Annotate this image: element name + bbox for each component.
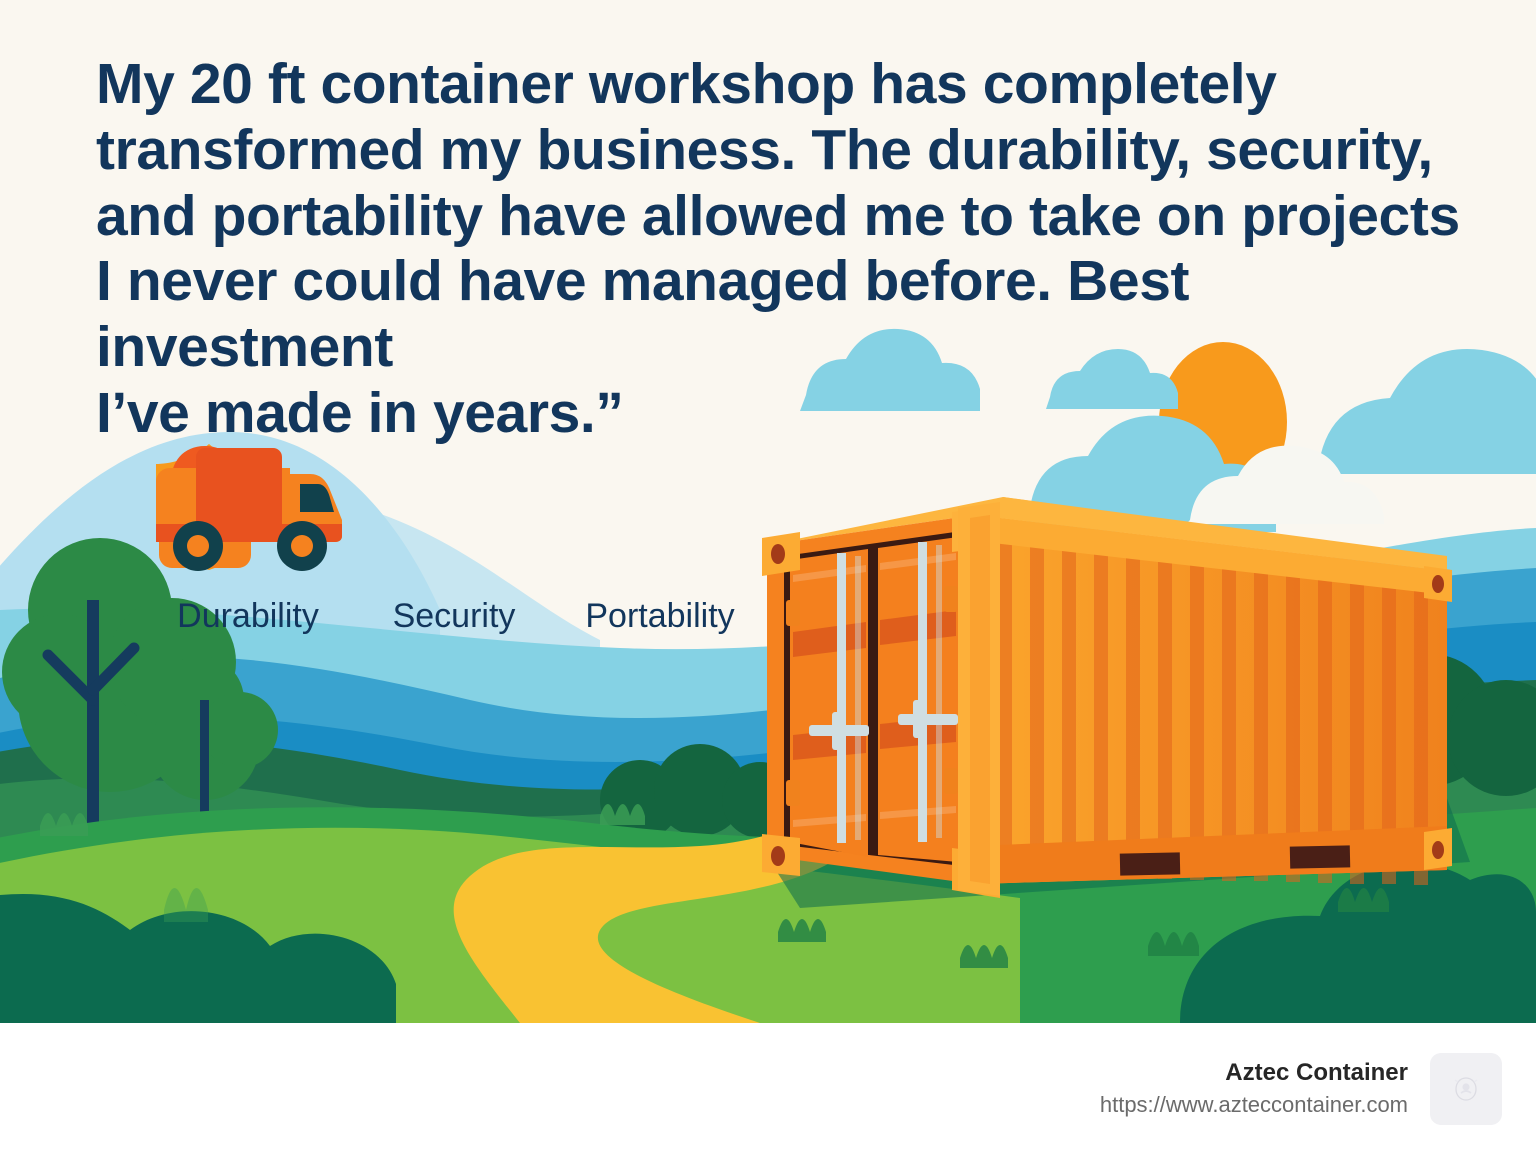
footer-text-block: Aztec Container https://www.azteccontain… bbox=[1100, 1058, 1408, 1120]
feature-item-security: Security bbox=[356, 440, 552, 633]
brand-url[interactable]: https://www.azteccontainer.com bbox=[1100, 1091, 1408, 1120]
broken-image-placeholder-icon bbox=[1451, 1074, 1481, 1104]
brand-name: Aztec Container bbox=[1100, 1058, 1408, 1088]
footer-bar: Aztec Container https://www.azteccontain… bbox=[0, 1023, 1536, 1154]
feature-label: Security bbox=[393, 599, 516, 633]
infographic-card: My 20 ft container workshop has complete… bbox=[0, 0, 1536, 1154]
feature-label: Durability bbox=[177, 599, 319, 633]
feature-list: Durability Security bbox=[150, 440, 758, 633]
illustration-canvas: My 20 ft container workshop has complete… bbox=[0, 0, 1536, 1023]
shipping-container bbox=[762, 497, 1470, 908]
feature-item-portability: Portability bbox=[562, 440, 758, 633]
brand-logo-placeholder bbox=[1430, 1053, 1502, 1125]
feature-label: Portability bbox=[585, 599, 734, 633]
testimonial-quote: My 20 ft container workshop has complete… bbox=[0, 52, 1536, 447]
